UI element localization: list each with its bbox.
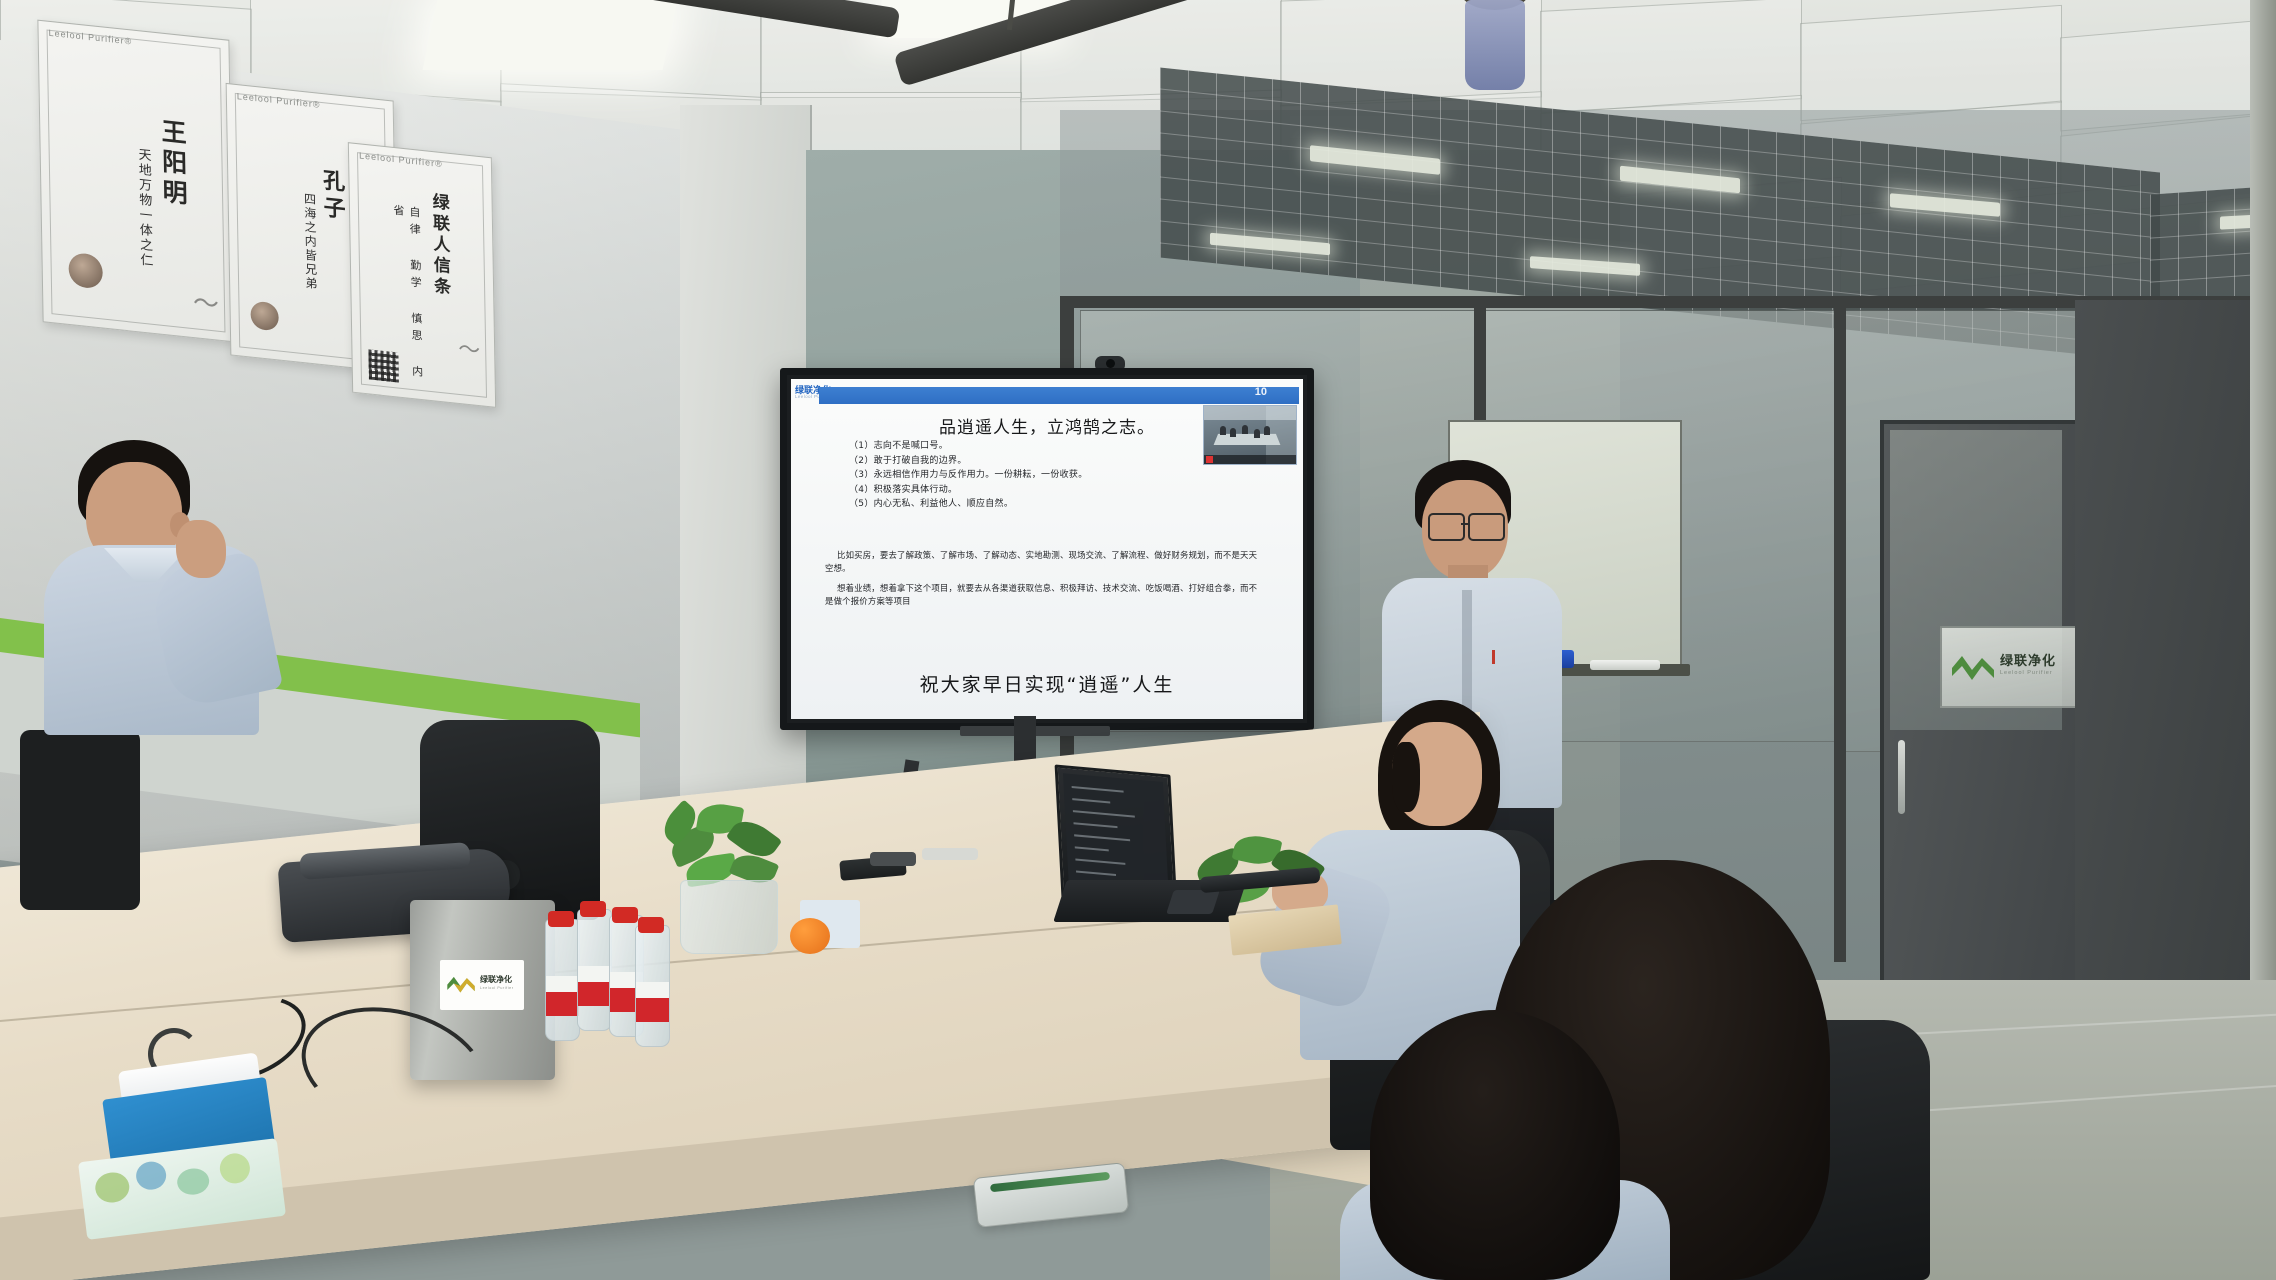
- foreground-attendee-2-head: [1370, 1010, 1620, 1280]
- slide-header-bar: [819, 387, 1299, 404]
- fan-light-shade: [1465, 0, 1525, 90]
- glasses-icon: [1468, 513, 1505, 541]
- slide-bullet-list: （1）志向不是喊口号。 （2）敢于打破自我的边界。 （3）永远相信作用力与反作用…: [849, 439, 1229, 512]
- wall-sign-cn: 绿联净化: [2000, 654, 2056, 667]
- slide-footer-text: 祝大家早日实现“逍遥”人生: [791, 670, 1303, 697]
- shirt-pocket-mark: [1492, 650, 1495, 664]
- glasses-icon: [1428, 513, 1465, 541]
- wall-brand-sign: 绿联净化 Leelool Purifier: [1940, 626, 2084, 708]
- wall-poster-wang-yangming: Leelool Purifier® 王阳明 天地万物一体之仁 〜: [37, 20, 234, 343]
- slide-paragraph: 想着业绩，想着拿下这个项目，就要去从各渠道获取信息、积极拜访、技术交流、吃饭喝酒…: [825, 582, 1265, 608]
- slide-page-number: 10: [1255, 386, 1267, 398]
- glasses-bridge: [1461, 523, 1469, 525]
- poster-name: 绿联人信条: [427, 191, 454, 299]
- meeting-room-scene: Leelool Purifier® 王阳明 天地万物一体之仁 〜 Leelool…: [0, 0, 2276, 1280]
- orange-fruit: [790, 918, 830, 954]
- slide-bullet: （1）志向不是喊口号。: [849, 439, 1229, 454]
- poster-quote: 天地万物一体之仁: [133, 147, 154, 269]
- desk-clutter: [870, 846, 990, 872]
- door-handle[interactable]: [1898, 740, 1905, 814]
- slide-body-text: 比如买房，要去了解政策、了解市场、了解动态、实地勘测、现场交流、了解流程、做好财…: [825, 549, 1265, 615]
- poster-quote: 四海之内皆兄弟: [301, 192, 320, 292]
- bin-label-en: Leelool Purifier: [480, 986, 514, 990]
- laptop-trackpad[interactable]: [1166, 890, 1220, 914]
- bin-brand-label: 绿联净化 Leelool Purifier: [440, 960, 524, 1010]
- slide-canvas: 绿联净化 Leelool Purifier® 10 品逍遥人生，立鸿鹄之志。 （…: [791, 379, 1303, 719]
- leelool-logo-icon: [1950, 650, 1996, 684]
- attendee-left-hand: [176, 520, 226, 578]
- leelool-logo-icon: [446, 972, 476, 996]
- glass-vase: [680, 880, 778, 954]
- slide-bullet: （4）积极落实具体行动。: [849, 483, 1229, 498]
- camera-lens-icon: [1106, 359, 1115, 368]
- bin-label-cn: 绿联净化: [480, 976, 514, 984]
- poster-name: 孔子: [316, 167, 349, 224]
- record-indicator-icon: [1206, 456, 1213, 463]
- bottled-water-pack: [545, 895, 665, 1065]
- slide-paragraph: 比如买房，要去了解政策、了解市场、了解动态、实地勘测、现场交流、了解流程、做好财…: [825, 549, 1265, 575]
- wall-poster-creed: Leelool Purifier® 绿联人信条 自律 勤学 慎思 内省 〜: [348, 142, 496, 408]
- poster-name: 王阳明: [154, 117, 192, 211]
- qr-code: [368, 349, 399, 382]
- whiteboard-marker[interactable]: [1590, 660, 1660, 670]
- pip-status-bar: [1204, 455, 1296, 464]
- attendee-woman-hair-front: [1392, 742, 1420, 812]
- presentation-display[interactable]: 绿联净化 Leelool Purifier® 10 品逍遥人生，立鸿鹄之志。 （…: [780, 368, 1314, 730]
- slide-bullet: （3）永远相信作用力与反作用力。一份耕耘，一份收获。: [849, 468, 1229, 483]
- slide-bullet: （5）内心无私、利益他人、顺应自然。: [849, 497, 1229, 512]
- wall-sign-en: Leelool Purifier: [2000, 670, 2056, 676]
- video-conference-thumbnail[interactable]: [1203, 405, 1297, 465]
- slide-bullet: （2）敢于打破自我的边界。: [849, 454, 1229, 469]
- right-wall-dark: [2075, 300, 2276, 1060]
- office-chair[interactable]: [20, 730, 140, 910]
